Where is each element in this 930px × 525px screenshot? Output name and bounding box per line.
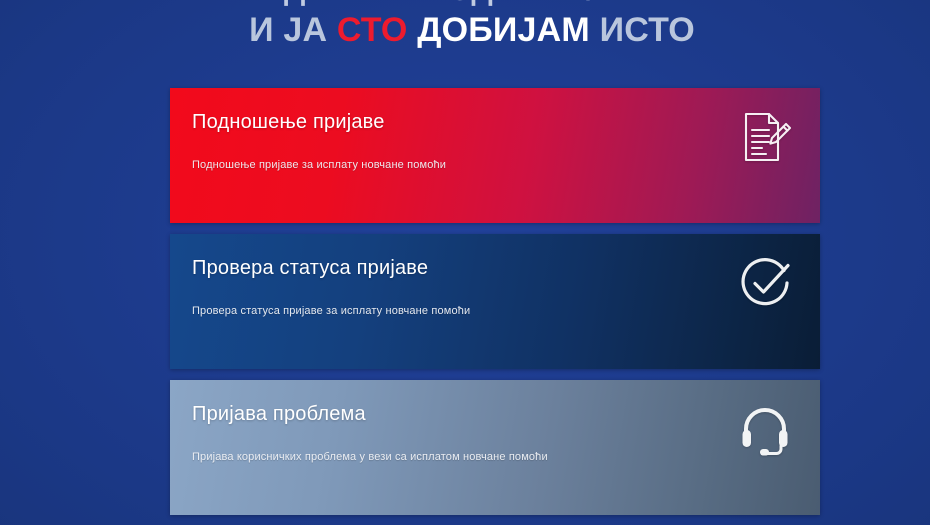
card-title: Провера статуса пријаве bbox=[192, 256, 794, 280]
headline-segment-dim-2: ИСТО bbox=[590, 11, 695, 49]
headline-segment-bright: ДОБИЈАМ bbox=[408, 11, 590, 49]
headline-segment-accent: СТО bbox=[337, 11, 408, 49]
card-title: Пријава проблема bbox=[192, 402, 794, 426]
page-root: ДРЖАВА ВОДИ РАЧУНА И ЈА СТО ДОБИЈАМ ИСТО… bbox=[0, 0, 930, 525]
headline-line-2: И ЈА СТО ДОБИЈАМ ИСТО bbox=[0, 10, 930, 50]
card-check-status[interactable]: Провера статуса пријаве Провера статуса … bbox=[170, 234, 820, 369]
action-card-list: Подношење пријаве Подношење пријаве за и… bbox=[170, 88, 820, 525]
headline-segment-dim-1: И ЈА bbox=[249, 11, 337, 49]
headline-line-1: ДРЖАВА ВОДИ РАЧУНА bbox=[0, 0, 930, 8]
card-title: Подношење пријаве bbox=[192, 110, 794, 134]
card-subtitle: Пријава корисничких проблема у вези са и… bbox=[192, 450, 794, 464]
card-submit-application[interactable]: Подношење пријаве Подношење пријаве за и… bbox=[170, 88, 820, 223]
headline: ДРЖАВА ВОДИ РАЧУНА И ЈА СТО ДОБИЈАМ ИСТО bbox=[0, 0, 930, 50]
card-subtitle: Подношење пријаве за исплату новчане пом… bbox=[192, 158, 794, 172]
card-subtitle: Провера статуса пријаве за исплату новча… bbox=[192, 304, 794, 318]
card-report-problem[interactable]: Пријава проблема Пријава корисничких про… bbox=[170, 380, 820, 515]
